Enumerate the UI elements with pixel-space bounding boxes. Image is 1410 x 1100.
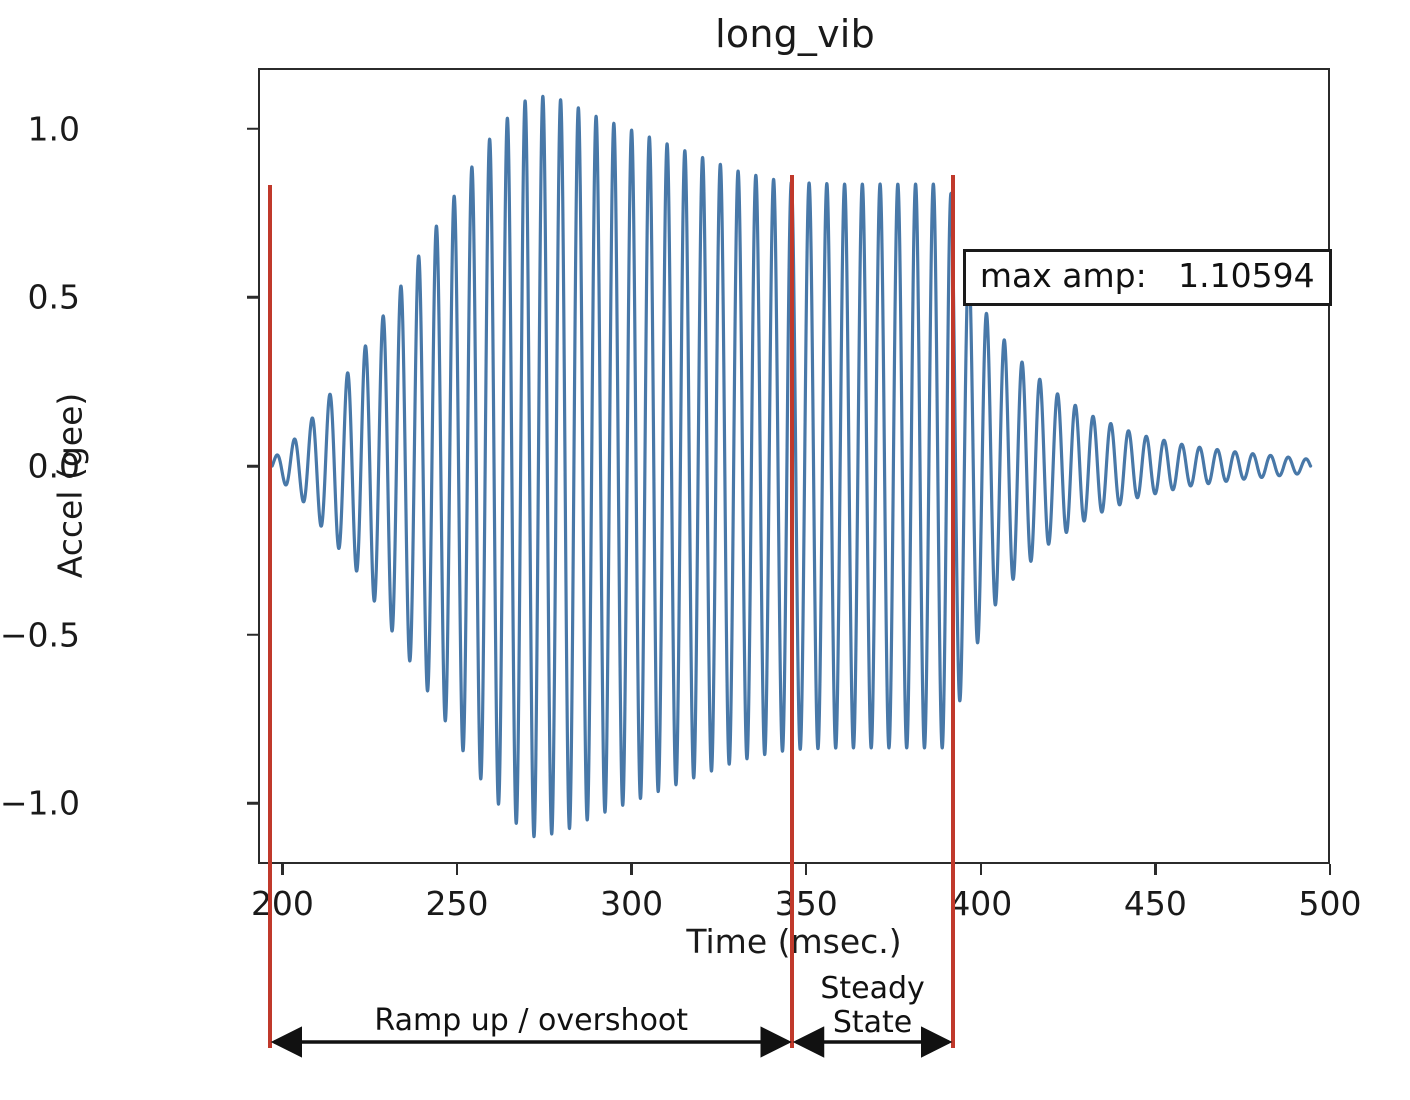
x-tick-label: 400 xyxy=(901,884,1061,923)
x-tick-mark xyxy=(1329,864,1332,875)
region-label-steady-state: SteadyState xyxy=(820,972,924,1039)
y-tick-mark xyxy=(247,465,258,468)
figure-canvas: long_vib Accel (gee) Time (msec.) 1.00.5… xyxy=(0,0,1410,1100)
y-tick-mark xyxy=(247,802,258,805)
max-amp-annotation: max amp: 1.10594 xyxy=(963,249,1332,306)
x-tick-mark xyxy=(980,864,983,875)
x-tick-label: 450 xyxy=(1075,884,1235,923)
y-tick-mark xyxy=(247,127,258,130)
y-tick-label: −0.5 xyxy=(0,615,80,654)
x-tick-mark xyxy=(281,864,284,875)
marker-line-end-of-steady-state xyxy=(951,175,955,1048)
x-tick-mark xyxy=(456,864,459,875)
y-tick-label: 0.5 xyxy=(0,278,80,317)
marker-line-end-of-ramp-up xyxy=(790,175,794,1048)
page-title: long_vib xyxy=(0,12,1410,56)
y-tick-mark xyxy=(247,633,258,636)
region-label-line2: State xyxy=(820,1006,924,1040)
y-tick-mark xyxy=(247,296,258,299)
y-tick-label: 1.0 xyxy=(0,109,80,148)
x-tick-label: 200 xyxy=(202,884,362,923)
marker-line-start-of-vibration xyxy=(268,185,272,1048)
x-tick-label: 300 xyxy=(552,884,712,923)
region-label-ramp-up-overshoot: Ramp up / overshoot xyxy=(374,1004,688,1038)
region-label-line1: Steady xyxy=(820,972,924,1006)
x-tick-label: 500 xyxy=(1250,884,1410,923)
y-tick-label: −1.0 xyxy=(0,784,80,823)
x-tick-mark xyxy=(630,864,633,875)
x-tick-label: 350 xyxy=(726,884,886,923)
x-tick-mark xyxy=(1154,864,1157,875)
x-tick-mark xyxy=(805,864,808,875)
y-tick-label: 0.0 xyxy=(0,447,80,486)
x-tick-label: 250 xyxy=(377,884,537,923)
